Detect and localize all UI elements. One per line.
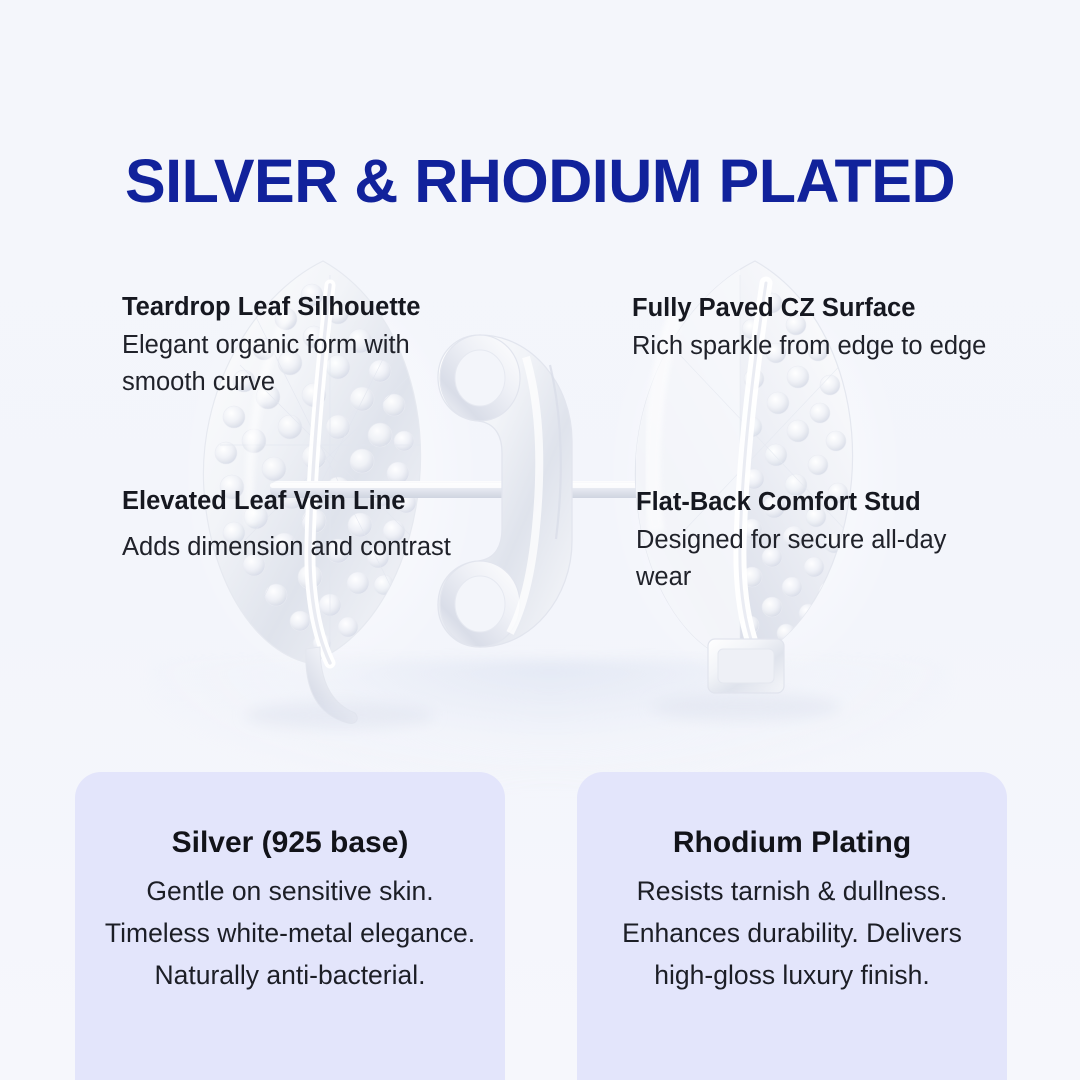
feature-description: Designed for secure all-day wear (636, 522, 1008, 596)
product-floor-reflection (150, 660, 950, 790)
feature-title: Fully Paved CZ Surface (632, 293, 1004, 323)
card-body: Gentle on sensitive skin. Timeless white… (99, 870, 481, 996)
card-title: Rhodium Plating (601, 824, 983, 862)
material-card-rhodium-plating: Rhodium Plating Resists tarnish & dullne… (577, 772, 1007, 1080)
feature-fully-paved-cz-surface: Fully Paved CZ Surface Rich sparkle from… (632, 293, 1004, 365)
feature-flat-back-comfort-stud: Flat-Back Comfort Stud Designed for secu… (636, 487, 1008, 596)
feature-title: Elevated Leaf Vein Line (122, 486, 492, 516)
poster-canvas: SILVER & RHODIUM PLATED (0, 0, 1080, 1080)
feature-title: Flat-Back Comfort Stud (636, 487, 1008, 517)
feature-elevated-leaf-vein-line: Elevated Leaf Vein Line Adds dimension a… (122, 486, 492, 566)
material-card-silver: Silver (925 base) Gentle on sensitive sk… (75, 772, 505, 1080)
card-body: Resists tarnish & dullness. Enhances dur… (601, 870, 983, 996)
feature-description: Rich sparkle from edge to edge (632, 328, 1004, 365)
card-title: Silver (925 base) (99, 824, 481, 862)
feature-description: Elegant organic form with smooth curve (122, 327, 492, 401)
feature-description: Adds dimension and contrast (122, 529, 492, 566)
page-title: SILVER & RHODIUM PLATED (0, 145, 1080, 217)
feature-title: Teardrop Leaf Silhouette (122, 292, 492, 322)
feature-teardrop-leaf-silhouette: Teardrop Leaf Silhouette Elegant organic… (122, 292, 492, 401)
